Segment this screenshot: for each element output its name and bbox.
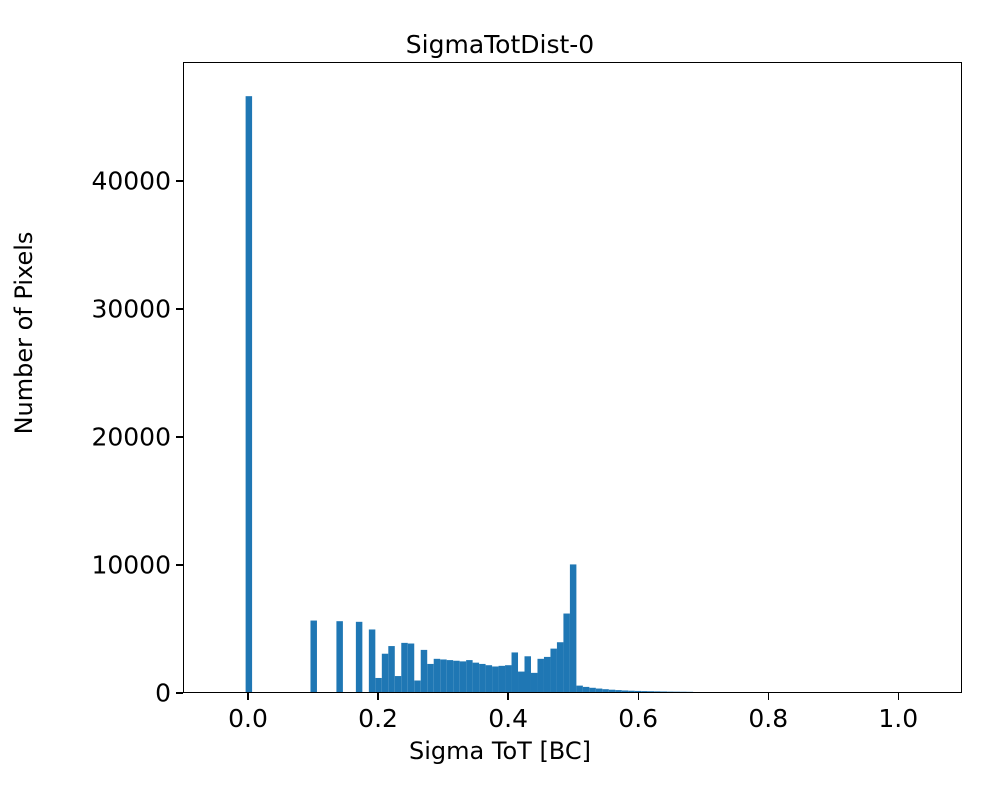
histogram-bar [434,659,440,692]
histogram-bar [550,649,556,692]
histogram-bar [440,659,446,692]
y-tick-label: 40000 [0,167,171,196]
histogram-bar [408,644,414,692]
histogram-bar [654,691,660,692]
histogram-bar [310,621,316,692]
histogram-bar [505,665,511,692]
y-tick-mark [176,564,183,565]
histogram-bar [479,664,485,692]
histogram-bar [246,96,252,692]
page-title: SigmaTotDist-0 [0,30,1000,59]
histogram-bar [570,564,576,692]
x-tick-mark [768,693,769,700]
histogram-bar [369,629,375,692]
y-tick-mark [176,436,183,437]
histogram-bar [557,642,563,692]
histogram-bar [635,691,641,692]
histogram-bar [395,676,401,692]
y-tick-label: 0 [0,679,171,708]
histogram-bar [628,691,634,692]
x-tick-label: 0.4 [488,704,528,733]
y-tick-label: 10000 [0,551,171,580]
x-tick-mark [377,693,378,700]
y-axis-label: Number of Pixels [10,193,38,473]
histogram-bar [576,686,582,692]
histogram-bar [401,643,407,692]
histogram-bar [375,678,381,692]
x-tick-label: 0.2 [358,704,398,733]
bars-group [184,63,961,692]
histogram-bar [421,650,427,692]
histogram-bar [537,659,543,692]
histogram-bar [460,661,466,692]
histogram-bar [648,691,654,692]
histogram-bar [453,661,459,692]
histogram-figure: SigmaTotDist-0 0.00.20.40.60.81.00100002… [0,0,1000,800]
x-tick-label: 1.0 [878,704,918,733]
histogram-bar [589,688,595,692]
x-tick-label: 0.0 [228,704,268,733]
histogram-bar [531,673,537,692]
plot-area [183,62,962,693]
x-axis-label: Sigma ToT [BC] [0,737,1000,765]
histogram-bar [486,665,492,692]
histogram-bar [622,690,628,692]
histogram-bar [336,621,342,692]
x-tick-mark [638,693,639,700]
histogram-bar [356,622,362,692]
y-tick-mark [176,692,183,693]
histogram-bar [382,654,388,692]
histogram-bar [563,614,569,692]
histogram-bar [641,691,647,692]
histogram-bar [499,666,505,692]
histogram-bar [525,656,531,692]
histogram-bar [466,660,472,692]
histogram-bar [544,657,550,692]
histogram-bar [583,687,589,692]
histogram-bar [388,646,394,692]
histogram-bar [473,663,479,692]
y-tick-mark [176,180,183,181]
histogram-bar [602,689,608,692]
histogram-bar [596,689,602,692]
histogram-bar [518,672,524,692]
histogram-bar [512,652,518,692]
y-tick-mark [176,308,183,309]
x-tick-label: 0.8 [748,704,788,733]
histogram-bar [609,690,615,692]
histogram-bar [615,690,621,692]
histogram-bar [414,681,420,692]
x-tick-mark [507,693,508,700]
histogram-bar [492,666,498,692]
x-tick-mark [898,693,899,700]
x-tick-label: 0.6 [618,704,658,733]
histogram-bar [447,660,453,692]
x-tick-mark [247,693,248,700]
histogram-bar [427,664,433,692]
histogram-bar [661,691,667,692]
